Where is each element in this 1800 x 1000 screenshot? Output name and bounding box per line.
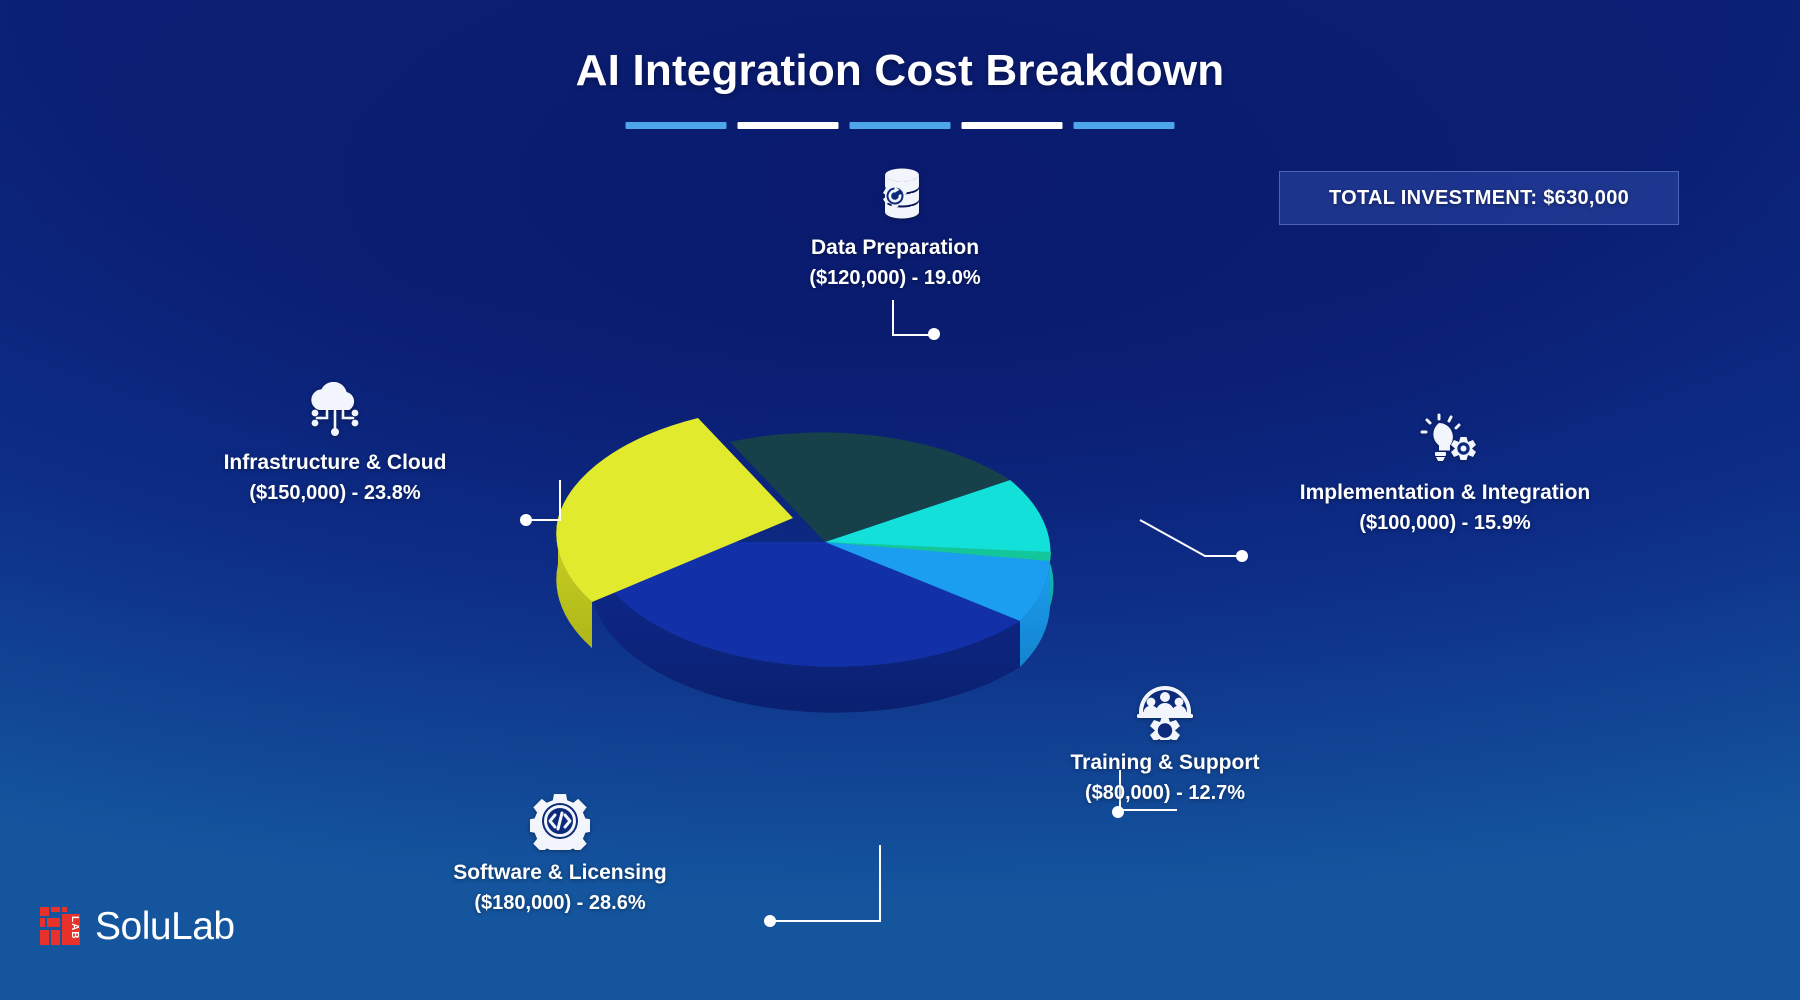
callout-label: Training & Support xyxy=(1010,750,1320,776)
infographic-canvas: AI Integration Cost Breakdown TOTAL INVE… xyxy=(0,0,1800,1000)
solulab-mark-lab-text: LAB xyxy=(68,908,81,948)
team-gear-icon xyxy=(1010,680,1320,742)
cloud-network-icon xyxy=(185,380,485,442)
callout-value: ($180,000) - 28.6% xyxy=(410,890,710,917)
database-gear-icon xyxy=(760,165,1030,227)
callout-label: Infrastructure & Cloud xyxy=(185,450,485,476)
rule-bar-5 xyxy=(1074,122,1175,129)
callout-label: Implementation & Integration xyxy=(1255,480,1635,506)
lightbulb-gear-icon xyxy=(1255,410,1635,472)
callout-value: ($80,000) - 12.7% xyxy=(1010,780,1320,807)
callout-software-licensing: Software & Licensing ($180,000) - 28.6% xyxy=(410,790,710,917)
rule-bar-3 xyxy=(850,122,951,129)
callout-data-preparation: Data Preparation ($120,000) - 19.0% xyxy=(760,165,1030,292)
solulab-mark-icon: LAB xyxy=(40,905,82,949)
title-underline-bars xyxy=(626,122,1175,129)
callout-value: ($150,000) - 23.8% xyxy=(185,480,485,507)
callout-label: Software & Licensing xyxy=(410,860,710,886)
rule-bar-2 xyxy=(738,122,839,129)
callout-training-support: Training & Support ($80,000) - 12.7% xyxy=(1010,680,1320,807)
rule-bar-1 xyxy=(626,122,727,129)
callout-value: ($100,000) - 15.9% xyxy=(1255,510,1635,537)
page-title: AI Integration Cost Breakdown xyxy=(0,46,1800,96)
callout-value: ($120,000) - 19.0% xyxy=(760,265,1030,292)
total-investment-badge: TOTAL INVESTMENT: $630,000 xyxy=(1279,171,1679,225)
callout-infrastructure-cloud: Infrastructure & Cloud ($150,000) - 23.8… xyxy=(185,380,485,507)
solulab-logo[interactable]: LAB SoluLab xyxy=(40,905,235,949)
callout-implementation-integration: Implementation & Integration ($100,000) … xyxy=(1255,410,1635,537)
rule-bar-4 xyxy=(962,122,1063,129)
callout-label: Data Preparation xyxy=(760,235,1030,261)
code-gear-icon xyxy=(410,790,710,852)
solulab-wordmark: SoluLab xyxy=(95,905,235,949)
